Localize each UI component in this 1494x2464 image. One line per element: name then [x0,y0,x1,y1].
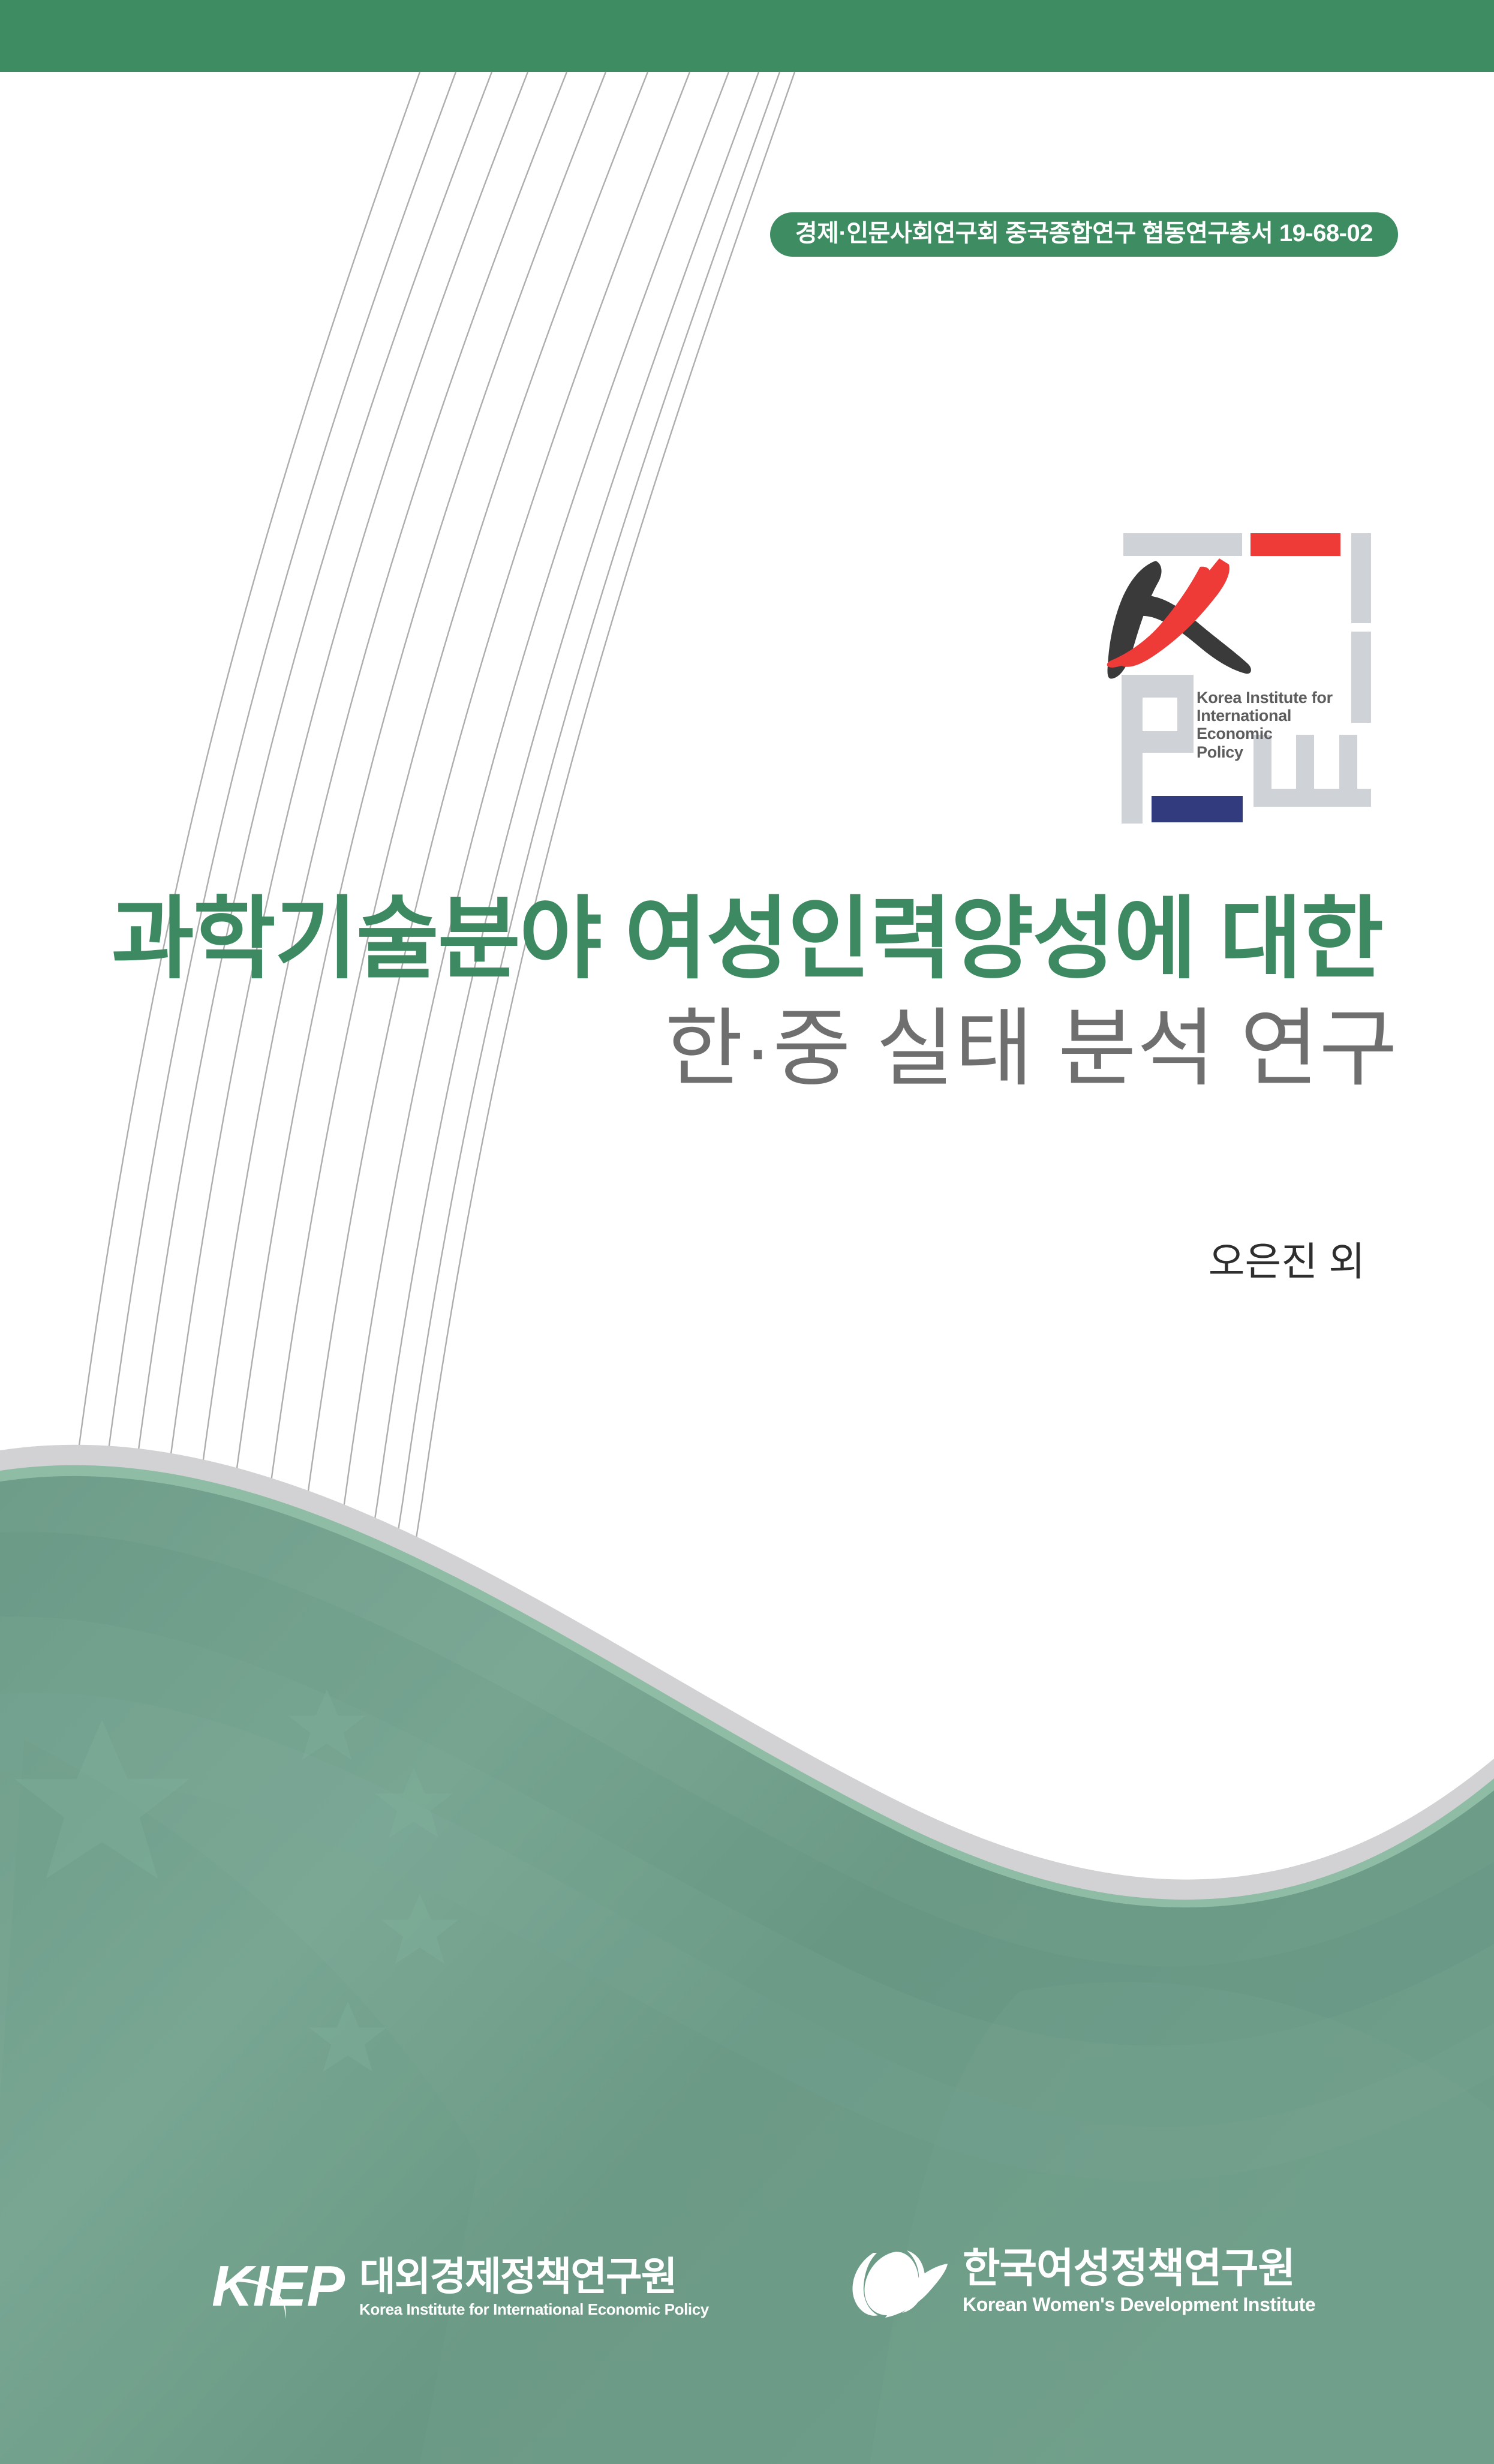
kwdi-english-name: Korean Women's Development Institute [963,2295,1315,2314]
caption-line-1: Korea Institute for [1197,689,1352,707]
caption-line-2: International [1197,707,1352,725]
caption-line-3: Economic [1197,725,1352,743]
kiep-emblem-svg [1083,507,1382,825]
kwdi-leaf-icon [844,2248,949,2329]
series-badge: 경제·인문사회연구회 중국종합연구 협동연구총서 19-68-02 [770,212,1398,257]
title-line-1: 과학기술분야 여성인력양성에 대한 [0,894,1494,984]
kiep-wordmark-icon: KIEP [213,2254,351,2320]
book-cover: 경제·인문사회연구회 중국종합연구 협동연구총서 19-68-02 [0,0,1494,2464]
kiep-english-name: Korea Institute for International Econom… [359,2301,709,2317]
kwdi-korean-name: 한국여성정책연구원 [963,2248,1315,2289]
footer-kwdi-logo: 한국여성정책연구원 Korean Women's Development Ins… [844,2248,1315,2329]
caption-line-4: Policy [1197,743,1352,761]
footer-kiep-logo: KIEP 대외경제정책연구원 Korea Institute for Inter… [213,2254,709,2320]
author-name: 오은진 외 [0,1230,1494,1287]
kiep-korean-name: 대외경제정책연구원 [359,2256,709,2296]
kiep-emblem-caption: Korea Institute for International Econom… [1197,689,1352,761]
svg-text:KIEP: KIEP [213,2254,345,2318]
title-line-2: 한·중 실태 분석 연구 [0,1006,1494,1092]
kiep-emblem [1083,507,1382,825]
top-green-bar [0,0,1494,72]
